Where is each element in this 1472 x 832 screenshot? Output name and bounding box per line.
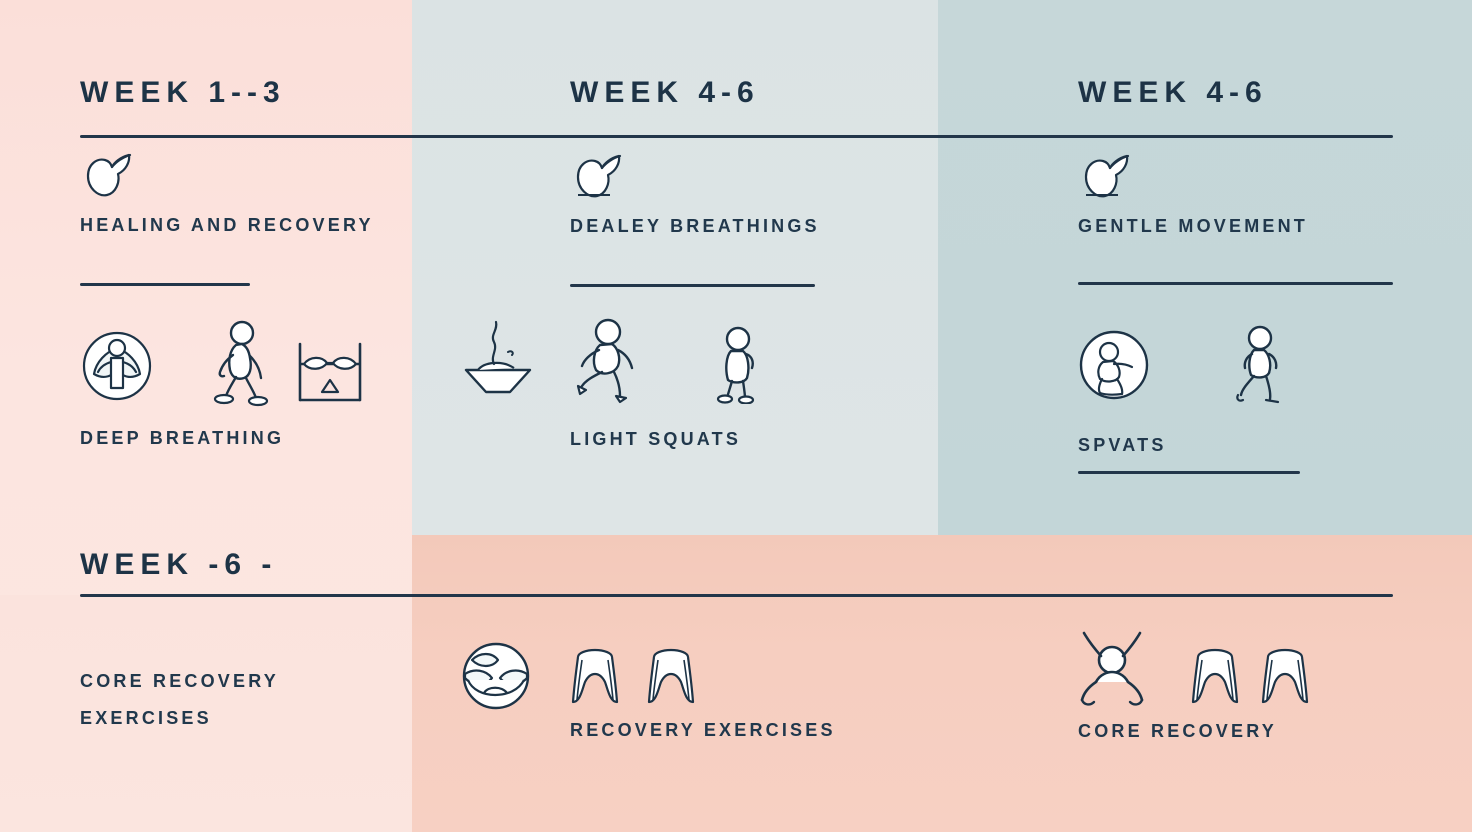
activity-underline-column-3 — [1078, 471, 1300, 474]
week-title-bottom: WEEK -6 - — [80, 548, 277, 582]
steaming-bowl-icon — [458, 318, 538, 396]
arms-up-figure-icon — [1074, 630, 1152, 708]
arch-stool-icon — [568, 648, 622, 706]
headline-underline-column-3 — [1078, 282, 1393, 285]
headline-label-column-1: HEALING AND RECOVERY — [80, 215, 374, 236]
week-title-column-1: WEEK 1--3 — [80, 76, 286, 110]
week-title-column-2: WEEK 4-6 — [570, 76, 760, 110]
headline-label-column-2: DEALEY BREATHINGS — [570, 216, 820, 237]
activity-label-column-2: LIGHT SQUATS — [570, 429, 741, 450]
activity-label-column-3: SPVATS — [1078, 435, 1167, 456]
walking-figure-icon — [206, 320, 274, 408]
bloom-bowl-icon — [458, 638, 534, 714]
top-divider-rule — [80, 135, 1393, 138]
bottom-right-label: CORE RECOVERY — [1078, 721, 1277, 742]
arch-stool-icon — [1188, 648, 1242, 706]
circle-squat-figure-icon — [1076, 327, 1152, 403]
infographic-canvas: WEEK 1--3 HEALING AND RECOVERY — [0, 0, 1472, 832]
apple-icon — [80, 152, 142, 198]
activity-label-column-1: DEEP BREATHING — [80, 428, 284, 449]
apple-icon — [1078, 153, 1140, 199]
apple-icon — [570, 153, 632, 199]
arch-stool-icon — [1258, 648, 1312, 706]
lotus-figure-icon — [78, 326, 156, 406]
headline-underline-column-2 — [570, 284, 815, 287]
standing-figure-icon — [712, 326, 768, 404]
headline-underline-column-1 — [80, 283, 250, 286]
bottom-divider-rule — [80, 594, 1393, 597]
arch-stool-icon — [644, 648, 698, 706]
rest-bench-icon — [294, 342, 366, 404]
running-figure-icon — [572, 318, 642, 404]
lunging-figure-icon — [1232, 325, 1292, 407]
bottom-left-label: CORE RECOVERY EXERCISES — [80, 663, 380, 737]
headline-label-column-3: GENTLE MOVEMENT — [1078, 216, 1308, 237]
week-title-column-3: WEEK 4-6 — [1078, 76, 1268, 110]
bottom-middle-label: RECOVERY EXERCISES — [570, 720, 836, 741]
